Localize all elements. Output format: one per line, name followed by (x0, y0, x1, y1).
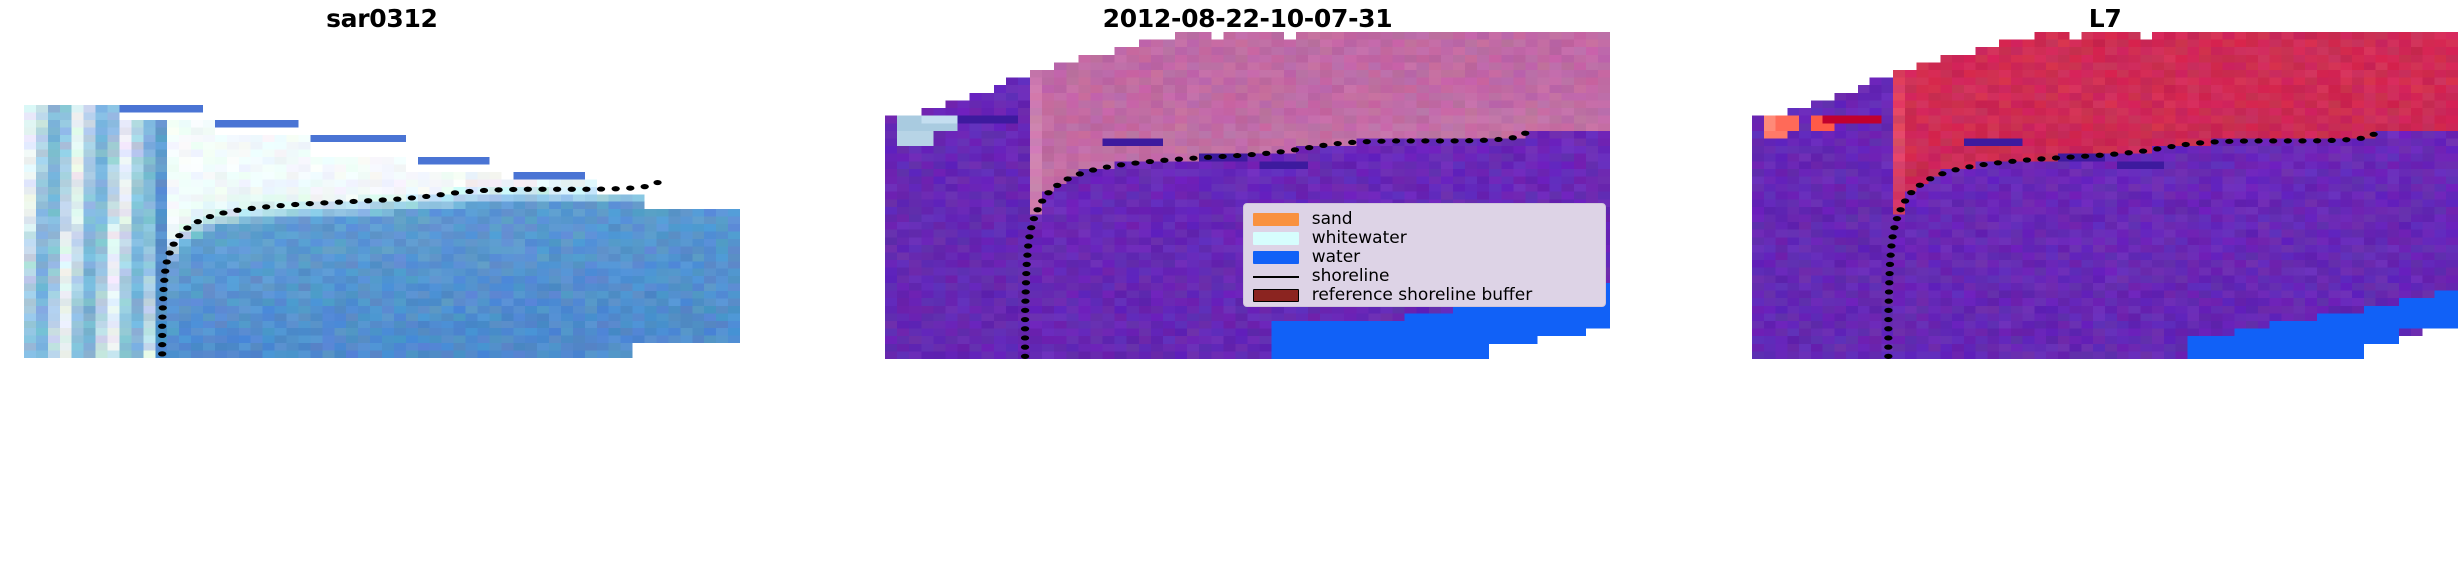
shoreline-dot (2124, 150, 2132, 155)
shoreline-dot (2023, 157, 2031, 162)
shoreline-dot (364, 198, 372, 203)
shoreline-dot (1025, 234, 1033, 239)
legend-label-shoreline: shoreline (1312, 267, 1390, 286)
shoreline-dot (1884, 354, 1892, 359)
shoreline-dot (1033, 207, 1041, 212)
shoreline-dot (1189, 156, 1197, 161)
l7-image (1752, 32, 2458, 359)
shoreline-dot (2240, 138, 2248, 143)
shoreline-dot (1262, 151, 1270, 156)
shoreline-dot (582, 187, 590, 192)
shoreline-dot (1884, 308, 1892, 313)
figure-root: sar0312 2012-08-22-10-07-31 L7 sand whit… (0, 0, 2460, 587)
sar-shoreline-overlay (24, 105, 740, 358)
whitewater-swatch-icon (1253, 232, 1299, 245)
panel-title-sar0312: sar0312 (24, 4, 740, 33)
shoreline-dot (1291, 147, 1299, 152)
legend-label-water: water (1312, 248, 1360, 267)
panel-l7: L7 (1752, 0, 2458, 587)
shoreline-dot (158, 324, 166, 329)
shoreline-dot (2008, 159, 2016, 164)
shoreline-dot (2139, 148, 2147, 153)
legend-label-reference-buffer: reference shoreline buffer (1312, 286, 1533, 305)
shoreline-dot (219, 210, 227, 215)
l7-shoreline-overlay (1752, 32, 2458, 359)
shoreline-dot (1038, 198, 1046, 203)
shoreline-dot (1145, 159, 1153, 164)
shoreline-dot (175, 233, 183, 238)
shoreline-dot (1916, 183, 1924, 188)
shoreline-dot (2225, 139, 2233, 144)
shoreline-dot (160, 278, 168, 283)
shoreline-dot (2369, 132, 2377, 137)
legend-label-sand: sand (1312, 210, 1353, 229)
reference-buffer-swatch-icon (1253, 289, 1299, 302)
shoreline-dot (1044, 190, 1052, 195)
shoreline-dot (1021, 308, 1029, 313)
shoreline-dot (2066, 154, 2074, 159)
water-swatch-icon (1253, 251, 1299, 264)
shoreline-dot (1102, 164, 1110, 169)
shoreline-dot (159, 287, 167, 292)
shoreline-dot (1926, 176, 1934, 181)
shoreline-dot (1450, 138, 1458, 143)
shoreline-dot (1884, 326, 1892, 331)
shoreline-dot (422, 194, 430, 199)
sand-swatch-icon (1253, 213, 1299, 226)
shoreline-dot (194, 219, 202, 224)
shoreline-dot (1160, 158, 1168, 163)
shoreline-dot (1117, 162, 1125, 167)
shoreline-dot (524, 187, 532, 192)
shoreline-dot (2110, 152, 2118, 157)
shoreline-dot (1494, 137, 1502, 142)
shoreline-dot (1888, 234, 1896, 239)
date-shoreline-overlay (885, 32, 1611, 359)
shoreline-dot (1218, 154, 1226, 159)
shoreline-dot (378, 197, 386, 202)
shoreline-dot (2313, 138, 2321, 143)
shoreline-dot (159, 305, 167, 310)
shoreline-dot (597, 186, 605, 191)
shoreline-dot (1406, 138, 1414, 143)
legend-item-reference-buffer: reference shoreline buffer (1253, 286, 1596, 305)
shoreline-dot (2182, 142, 2190, 147)
shoreline-dot (1021, 354, 1029, 359)
shoreline-dot (1886, 262, 1894, 267)
shoreline-dot (393, 197, 401, 202)
shoreline-dot (158, 333, 166, 338)
shoreline-dot (1305, 145, 1313, 150)
shoreline-dot (2081, 154, 2089, 159)
shoreline-dot (2328, 138, 2336, 143)
shoreline-dot (626, 185, 634, 190)
panel-sar0312: sar0312 (24, 0, 740, 587)
legend-item-shoreline: shoreline (1253, 267, 1596, 286)
shoreline-dot (1233, 153, 1241, 158)
shoreline-dot (2269, 138, 2277, 143)
shoreline-dot (1053, 183, 1061, 188)
shoreline-dot (1465, 138, 1473, 143)
shoreline-dot (2167, 144, 2175, 149)
date-image (885, 32, 1611, 359)
shoreline-dot (408, 195, 416, 200)
shoreline-dot (1204, 155, 1212, 160)
shoreline-dot (1951, 167, 1959, 172)
shoreline-dot (494, 187, 502, 192)
shoreline-dot (1994, 160, 2002, 165)
shoreline-dot (1023, 253, 1031, 258)
shoreline-dot (2342, 137, 2350, 142)
shoreline-dot (1885, 271, 1893, 276)
shoreline-dot (611, 186, 619, 191)
shoreline-dot (1884, 335, 1892, 340)
shoreline-dot (1965, 164, 1973, 169)
shoreline-dot (1131, 160, 1139, 165)
shoreline-dot (1027, 225, 1035, 230)
shoreline-dot (509, 187, 517, 192)
shoreline-dot (2210, 139, 2218, 144)
shoreline-dot (1979, 162, 1987, 167)
shoreline-dot (436, 192, 444, 197)
shoreline-dot (1887, 243, 1895, 248)
shoreline-dot (1021, 335, 1029, 340)
shoreline-dot (1884, 317, 1892, 322)
shoreline-dot (1392, 138, 1400, 143)
legend-item-whitewater: whitewater (1253, 229, 1596, 248)
shoreline-dot (1021, 317, 1029, 322)
shoreline-dot (1421, 138, 1429, 143)
shoreline-dot (451, 190, 459, 195)
shoreline-dot (1029, 216, 1037, 221)
shoreline-dot (158, 351, 166, 356)
shoreline-dot (1319, 143, 1327, 148)
shoreline-dot (538, 187, 546, 192)
shoreline-dot (1938, 171, 1946, 176)
shoreline-dot (305, 201, 313, 206)
shoreline-dot (2037, 156, 2045, 161)
shoreline-dot (2298, 138, 2306, 143)
shoreline-dot (1901, 198, 1909, 203)
shoreline-dot (158, 342, 166, 347)
shoreline-dot (1885, 280, 1893, 285)
shoreline-dot (2254, 138, 2262, 143)
shoreline-dot (1024, 243, 1032, 248)
shoreline-line-icon (1253, 270, 1299, 283)
shoreline-dot (276, 203, 284, 208)
shoreline-dot (165, 250, 173, 255)
shoreline-dot (1436, 138, 1444, 143)
shoreline-dot (2095, 153, 2103, 158)
legend-label-whitewater: whitewater (1312, 229, 1407, 248)
shoreline-dot (1174, 157, 1182, 162)
shoreline-dot (1521, 131, 1529, 136)
shoreline-dot (183, 225, 191, 230)
panel-title-l7: L7 (1752, 4, 2458, 33)
shoreline-dot (1362, 139, 1370, 144)
shoreline-dot (1022, 280, 1030, 285)
shoreline-dot (480, 188, 488, 193)
shoreline-dot (1348, 140, 1356, 145)
shoreline-dot (206, 214, 214, 219)
shoreline-dot (2196, 140, 2204, 145)
legend-item-sand: sand (1253, 210, 1596, 229)
shoreline-dot (553, 187, 561, 192)
shoreline-dot (1021, 299, 1029, 304)
shoreline-dot (159, 296, 167, 301)
shoreline-dot (1907, 190, 1915, 195)
sar-image (24, 105, 740, 358)
shoreline-dot (162, 259, 170, 264)
shoreline-dot (262, 204, 270, 209)
shoreline-dot (1021, 326, 1029, 331)
shoreline-dot (1022, 262, 1030, 267)
shoreline-dot (2052, 155, 2060, 160)
shoreline-dot (1021, 345, 1029, 350)
shoreline-dot (1885, 289, 1893, 294)
shoreline-dot (320, 200, 328, 205)
shoreline-dot (161, 269, 169, 274)
shoreline-dot (1890, 225, 1898, 230)
shoreline-dot (158, 314, 166, 319)
shoreline-dot (640, 184, 648, 189)
shoreline-dot (2284, 138, 2292, 143)
shoreline-dot (1075, 171, 1083, 176)
shoreline-dot (1021, 289, 1029, 294)
shoreline-dot (1089, 167, 1097, 172)
shoreline-dot (1247, 152, 1255, 157)
shoreline-dot (2153, 146, 2161, 151)
shoreline-dot (1333, 141, 1341, 146)
legend-item-water: water (1253, 248, 1596, 267)
shoreline-dot (465, 189, 473, 194)
shoreline-dot (568, 187, 576, 192)
shoreline-dot (653, 180, 661, 185)
shoreline-dot (1508, 135, 1516, 140)
shoreline-dot (233, 208, 241, 213)
shoreline-dot (247, 206, 255, 211)
shoreline-dot (2357, 136, 2365, 141)
shoreline-dot (1022, 271, 1030, 276)
shoreline-dot (1276, 149, 1284, 154)
shoreline-dot (1893, 216, 1901, 221)
shoreline-dot (349, 199, 357, 204)
shoreline-dot (1896, 207, 1904, 212)
shoreline-dot (335, 200, 343, 205)
shoreline-dot (1377, 139, 1385, 144)
shoreline-dot (291, 202, 299, 207)
shoreline-dot (1884, 345, 1892, 350)
shoreline-dot (169, 242, 177, 247)
shoreline-dot (1063, 176, 1071, 181)
shoreline-dot (1479, 138, 1487, 143)
shoreline-dot (1886, 253, 1894, 258)
panel-title-date: 2012-08-22-10-07-31 (885, 4, 1611, 33)
shoreline-dot (1884, 299, 1892, 304)
legend: sand whitewater water shoreline referenc… (1243, 203, 1606, 307)
